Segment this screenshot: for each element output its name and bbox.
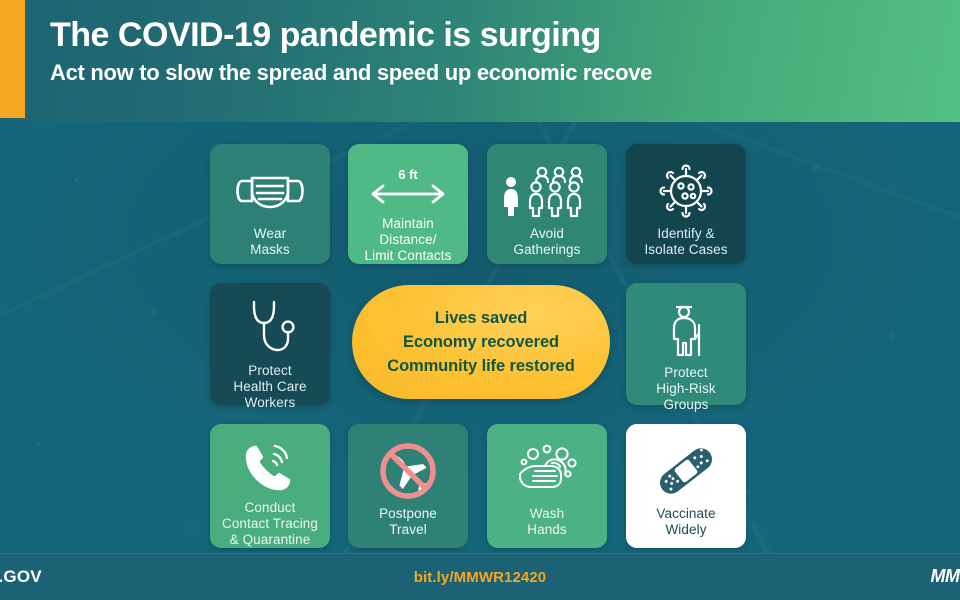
page-subtitle: Act now to slow the spread and speed up … [50,58,960,88]
card-label: Identify & Isolate Cases [640,226,731,258]
page-title: The COVID-19 pandemic is surging [50,14,960,56]
card-protect-high-risk-groups[interactable]: Protect High-Risk Groups [626,283,746,405]
card-label: Conduct Contact Tracing & Quarantine [218,500,322,548]
no-airplane-icon [377,440,439,502]
elderly-person-icon [664,299,708,361]
card-vaccinate-widely[interactable]: Vaccinate Widely [626,424,746,548]
footer-link[interactable]: bit.ly/MMWR12420 [0,569,960,586]
phone-call-icon [242,440,298,496]
header-banner: The COVID-19 pandemic is surging Act now… [0,0,960,122]
card-label: Maintain Distance/ Limit Contacts [361,216,456,264]
card-maintain-distance[interactable]: 6 ft Maintain Distance/ Limit Contacts [348,144,468,264]
header-text-block: The COVID-19 pandemic is surging Act now… [50,14,960,88]
card-label: Wash Hands [523,506,571,538]
outcome-pill-text: Lives saved Economy recovered Community … [387,306,574,378]
crowd-people-icon [500,160,594,222]
washing-hands-icon [511,440,583,502]
card-label: Postpone Travel [375,506,441,538]
card-postpone-travel[interactable]: Postpone Travel [348,424,468,548]
card-label: Protect High-Risk Groups [652,365,719,413]
footer-bar: C.GOV bit.ly/MMWR12420 MMW [0,553,960,600]
prevention-card-grid: Wear Masks 6 ft Maintain Distance/ Limit… [210,144,750,548]
card-label: Vaccinate Widely [652,506,719,538]
card-label: Avoid Gatherings [509,226,584,258]
card-wear-masks[interactable]: Wear Masks [210,144,330,264]
infographic-canvas: The COVID-19 pandemic is surging Act now… [0,0,960,600]
card-wash-hands[interactable]: Wash Hands [487,424,607,548]
header-accent-bar [0,0,25,118]
outcome-pill: Lives saved Economy recovered Community … [352,285,610,399]
mmwr-logo: MMW [931,566,960,587]
card-avoid-gatherings[interactable]: Avoid Gatherings [487,144,607,264]
distance-arrow-icon: 6 ft [368,160,448,212]
coronavirus-icon [655,160,717,222]
card-label: Protect Health Care Workers [229,363,310,411]
face-mask-icon [234,160,306,222]
bandage-icon [654,440,718,502]
card-label: Wear Masks [246,226,294,258]
stethoscope-icon [243,299,297,359]
card-protect-health-care-workers[interactable]: Protect Health Care Workers [210,283,330,405]
card-conduct-contact-tracing[interactable]: Conduct Contact Tracing & Quarantine [210,424,330,548]
card-identify-isolate-cases[interactable]: Identify & Isolate Cases [626,144,746,264]
distance-value-label: 6 ft [398,168,418,182]
